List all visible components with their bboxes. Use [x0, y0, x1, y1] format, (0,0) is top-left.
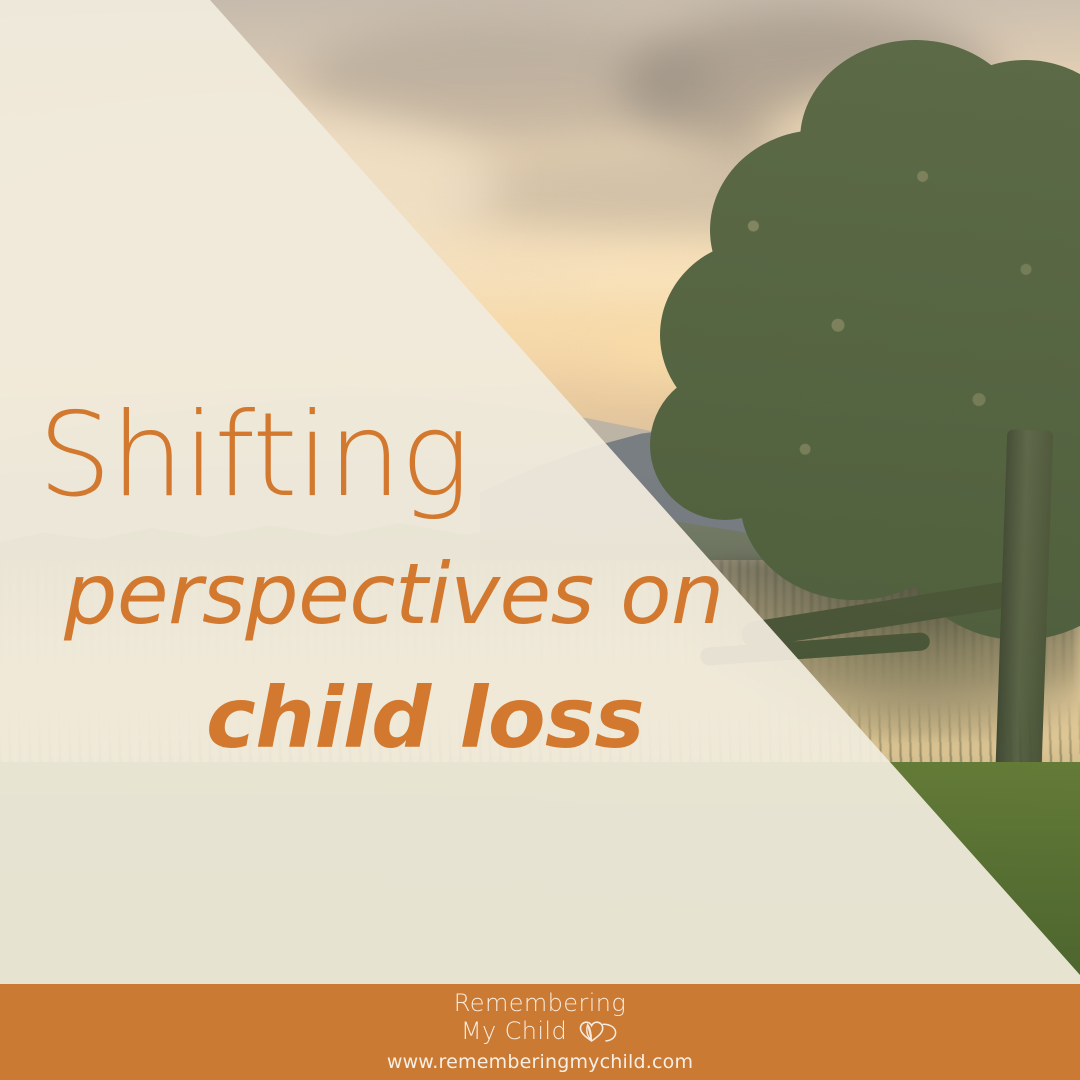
headline-line-2: perspectives on — [0, 552, 760, 636]
footer-bar: Remembering My Child www.rememberingmych… — [0, 984, 1080, 1080]
headline-block: Shifting perspectives on child loss — [0, 398, 760, 760]
brand-name-line-2-row: My Child — [461, 1018, 619, 1044]
headline-line-3: child loss — [0, 676, 760, 760]
brand-logo[interactable]: Remembering My Child — [454, 991, 626, 1044]
heart-leaf-icon — [573, 1018, 619, 1044]
headline-line-1: Shifting — [0, 398, 760, 514]
social-graphic-canvas: Shifting perspectives on child loss Reme… — [0, 0, 1080, 1080]
brand-name-line-1: Remembering — [454, 991, 626, 1015]
brand-name-line-2: My Child — [461, 1019, 567, 1043]
website-url[interactable]: www.rememberingmychild.com — [387, 1051, 693, 1073]
